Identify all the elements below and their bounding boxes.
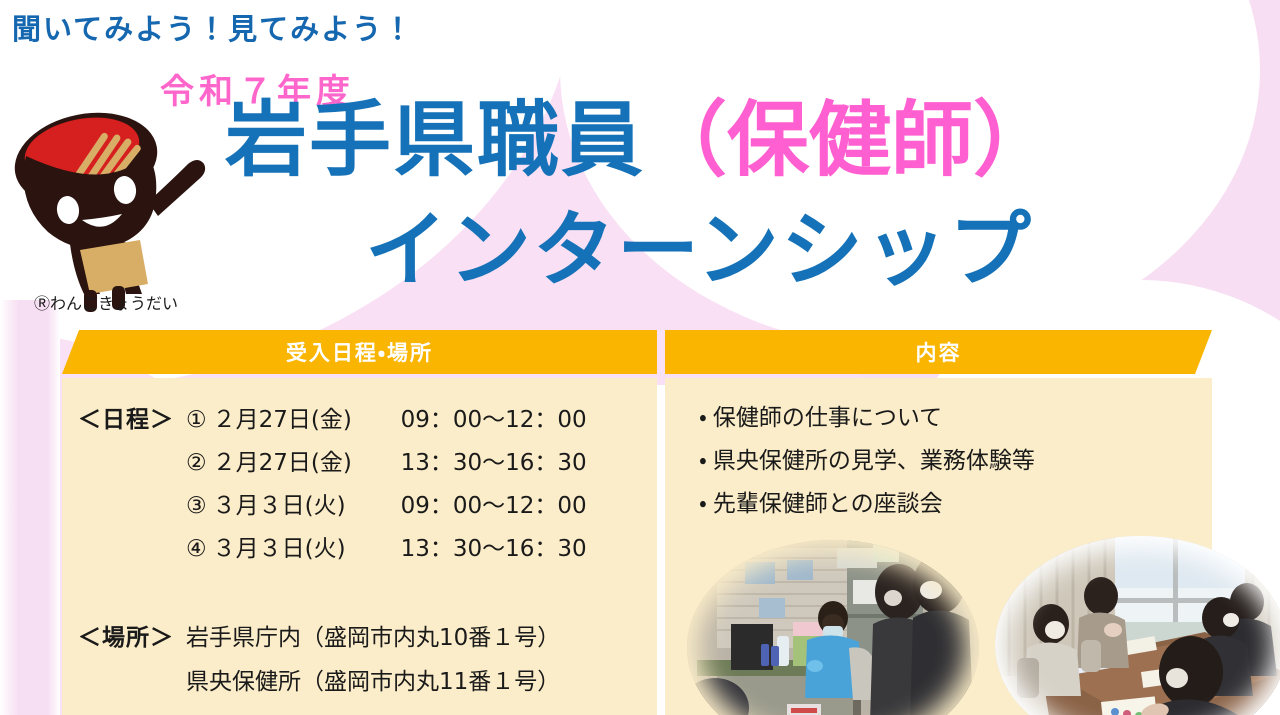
schedule-item-3-number: ③ [186, 493, 207, 519]
bullet-icon: ・ [699, 491, 707, 517]
place-row: 県央保健所（盛岡市内丸11番１号） [78, 662, 560, 696]
content-item-3-label: 先輩保健師との座談会 [713, 491, 943, 517]
table-cell-content: ・保健師の仕事について ・県央保健所の見学、業務体験等 ・先輩保健師との座談会 [665, 378, 1212, 715]
place-label: ＜場所＞ [78, 618, 186, 652]
content-list-item: ・保健師の仕事について [699, 398, 1035, 432]
schedule-item-1-number: ① [186, 407, 207, 433]
content-item-2-label: 県央保健所の見学、業務体験等 [713, 448, 1035, 474]
place-item-2: 県央保健所（盛岡市内丸11番１号） [186, 662, 560, 696]
content-item-1-label: 保健師の仕事について [713, 405, 942, 431]
schedule-row: ②２月27日(金)13：30〜16：30 [78, 443, 587, 477]
table-header-content: 内容 [665, 330, 1212, 374]
schedule-item-1-time: 09：00〜12：00 [401, 407, 587, 433]
table-cell-schedule: ＜日程＞ ①２月27日(金)09：00〜12：00 ②２月27日(金)13：30… [62, 378, 657, 715]
schedule-block: ＜日程＞ ①２月27日(金)09：00〜12：00 ②２月27日(金)13：30… [78, 400, 587, 572]
schedule-item-3-time: 09：00〜12：00 [401, 493, 587, 519]
info-table: 受入日程・場所 内容 ＜日程＞ ①２月27日(金)09：00〜12：00 ②２月… [62, 330, 1212, 715]
schedule-item-2: ②２月27日(金)13：30〜16：30 [186, 443, 587, 477]
schedule-item-3: ③３月３日(火)09：00〜12：00 [186, 486, 587, 520]
table-header-schedule-label: 受入日程・場所 [286, 337, 433, 367]
mascot-caption: Ⓡわんこきょうだい [34, 290, 178, 314]
table-header-row: 受入日程・場所 内容 [62, 330, 1212, 374]
photo-roundtable-discussion [995, 536, 1280, 715]
schedule-item-3-date: ３月３日(火) [213, 486, 401, 520]
title-org: 岩手県職員 [225, 95, 645, 186]
schedule-row: ＜日程＞ ①２月27日(金)09：00〜12：00 [78, 400, 587, 434]
place-item-1: 岩手県庁内（盛岡市内丸10番１号） [186, 618, 560, 652]
schedule-item-4-time: 13：30〜16：30 [401, 536, 587, 562]
schedule-item-4: ④３月３日(火)13：30〜16：30 [186, 529, 587, 563]
photo-health-center-demonstration [687, 540, 979, 715]
title-internship: インターンシップ [365, 205, 1033, 296]
table-header-content-label: 内容 [916, 337, 962, 367]
table-body-row: ＜日程＞ ①２月27日(金)09：00〜12：00 ②２月27日(金)13：30… [62, 378, 1212, 715]
table-header-schedule: 受入日程・場所 [62, 330, 657, 374]
schedule-item-2-number: ② [186, 450, 207, 476]
schedule-label: ＜日程＞ [78, 400, 186, 434]
background-left-strip [0, 300, 60, 715]
bullet-icon: ・ [699, 448, 707, 474]
tagline: 聞いてみよう！見てみよう！ [12, 6, 414, 48]
content-list: ・保健師の仕事について ・県央保健所の見学、業務体験等 ・先輩保健師との座談会 [699, 398, 1035, 527]
title-role: （保健師） [645, 95, 1055, 186]
content-list-item: ・先輩保健師との座談会 [699, 484, 1035, 518]
content-list-item: ・県央保健所の見学、業務体験等 [699, 441, 1035, 475]
schedule-item-2-date: ２月27日(金) [213, 443, 401, 477]
schedule-item-1-date: ２月27日(金) [213, 400, 401, 434]
bullet-icon: ・ [699, 405, 707, 431]
schedule-item-4-date: ３月３日(火) [213, 529, 401, 563]
place-block: ＜場所＞ 岩手県庁内（盛岡市内丸10番１号） 県央保健所（盛岡市内丸11番１号） [78, 618, 560, 706]
schedule-item-2-time: 13：30〜16：30 [401, 450, 587, 476]
place-row: ＜場所＞ 岩手県庁内（盛岡市内丸10番１号） [78, 618, 560, 652]
page-title-line-2: インターンシップ [365, 210, 1033, 292]
page-title-line-1: 岩手県職員（保健師） [225, 100, 1055, 182]
schedule-item-1: ①２月27日(金)09：00〜12：00 [186, 400, 587, 434]
schedule-row: ④３月３日(火)13：30〜16：30 [78, 529, 587, 563]
wanko-kyodai-mascot-icon [8, 98, 218, 313]
schedule-item-4-number: ④ [186, 536, 207, 562]
schedule-row: ③３月３日(火)09：00〜12：00 [78, 486, 587, 520]
